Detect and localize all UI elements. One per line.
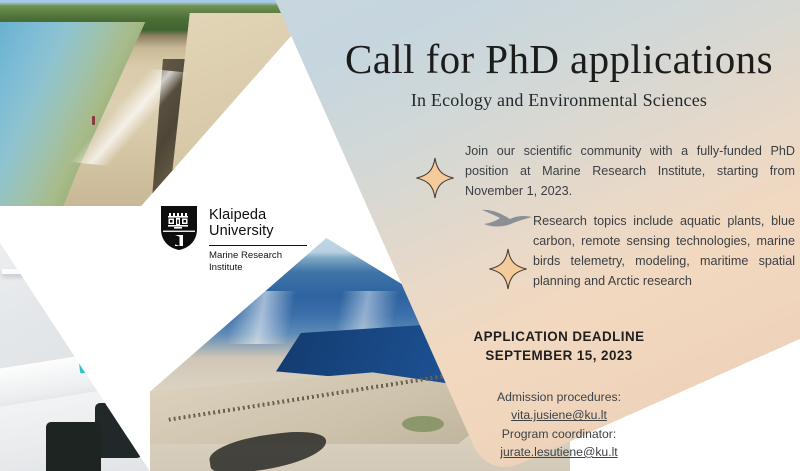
logo-divider [209,245,307,246]
university-shield-icon [160,205,198,251]
logo-institute-name: Marine Research Institute [209,250,307,275]
lab-photo-chair-right [95,403,142,457]
coordinator-label: Program coordinator: [320,425,798,443]
page-subtitle: In Ecology and Environmental Sciences [320,90,798,111]
lab-photo-teal-tray [77,349,123,373]
panel-content: Call for PhD applications In Ecology and… [310,0,800,471]
lab-photo-fire-extinguisher [109,333,120,362]
research-topics-paragraph: Research topics include aquatic plants, … [533,212,795,292]
beach-photo-person [92,116,95,125]
beach-photo-surf [70,62,192,174]
page-title: Call for PhD applications [320,38,798,81]
lab-photo-green-rack [76,253,101,269]
deadline-date: SEPTEMBER 15, 2023 [320,347,798,366]
application-deadline: APPLICATION DEADLINE SEPTEMBER 15, 2023 [320,328,798,365]
logo-sub-line-2: Institute [209,262,307,274]
logo-sub-line-1: Marine Research [209,250,307,262]
lab-photo-lamp-arm [56,225,133,232]
klaipeda-university-logo: Klaipeda University Marine Research Inst… [160,205,320,285]
four-point-star-icon [415,157,455,199]
admission-label: Admission procedures: [320,388,798,406]
four-point-star-icon [488,248,528,290]
poster-canvas: Call for PhD applications In Ecology and… [0,0,800,471]
admission-email-link[interactable]: vita.jusiene@ku.lt [320,406,798,424]
intro-paragraph: Join our scientific community with a ful… [465,142,795,202]
logo-text-block: Klaipeda University Marine Research Inst… [209,205,307,275]
logo-name-line-2: University [209,223,307,239]
lab-photo-shelf-upper [2,211,173,216]
lab-photo-shelf-lower [2,269,151,274]
beach-coastline-photo [0,0,326,206]
contact-block: Admission procedures: vita.jusiene@ku.lt… [320,388,798,461]
lab-photo-red-rack [26,250,70,269]
logo-name-line-1: Klaipeda [209,207,307,223]
deadline-label: APPLICATION DEADLINE [320,328,798,347]
lab-photo-bottles [110,369,156,393]
coordinator-email-link[interactable]: jurate.lesutiene@ku.lt [320,443,798,461]
seagull-icon [480,206,536,236]
logo-university-name: Klaipeda University [209,207,307,240]
lab-photo-chair-left [46,422,101,471]
